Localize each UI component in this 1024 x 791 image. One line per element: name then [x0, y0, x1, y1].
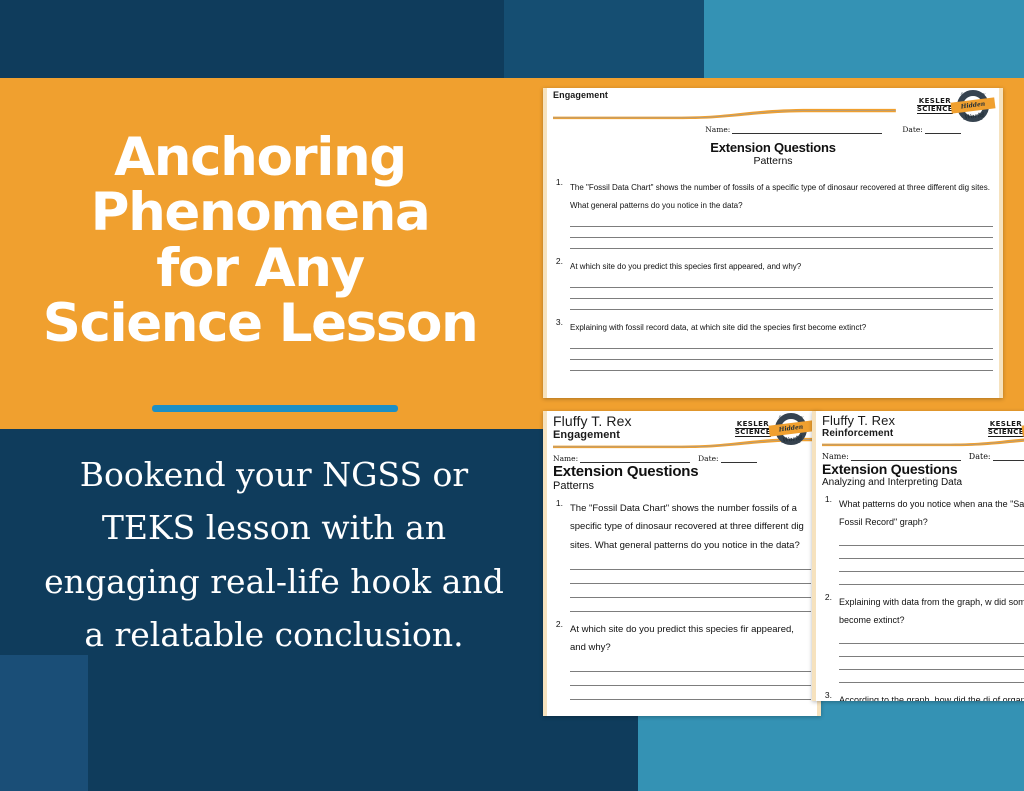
- divider-rule: [152, 405, 398, 412]
- date-field[interactable]: Date:: [698, 454, 756, 463]
- date-label: Date:: [698, 454, 718, 463]
- worksheet-title: Extension Questions: [553, 140, 993, 155]
- question-text: At which site do you predict this specie…: [570, 262, 801, 271]
- badge-top-text: Science Bey: [955, 91, 991, 96]
- question-item: 3. Explaining with fossil record data, a…: [553, 317, 993, 371]
- answer-line[interactable]: [570, 299, 993, 310]
- question-text: According to the graph, how did the di o…: [839, 695, 1024, 701]
- hero-subcopy: Bookend your NGSS or TEKS lesson with an…: [39, 448, 509, 662]
- question-number: 1.: [822, 494, 832, 585]
- question-text: Explaining with fossil record data, at w…: [570, 323, 866, 332]
- kesler-science-logo: KESLER SCIENCE: [988, 421, 1024, 436]
- question-text: The "Fossil Data Chart" shows the number…: [570, 503, 804, 551]
- date-label: Date:: [969, 452, 991, 461]
- worksheet-preview-b[interactable]: Fluffy T. Rex Engagement KESLER SCIENCE …: [543, 411, 821, 716]
- date-field[interactable]: Date:: [969, 452, 1024, 461]
- question-text: The "Fossil Data Chart" shows the number…: [570, 183, 990, 210]
- question-text: Explaining with data from the graph, w d…: [839, 597, 1024, 625]
- answer-line[interactable]: [839, 546, 1024, 559]
- answer-line[interactable]: [570, 556, 811, 570]
- question-item: 3. According to the graph, how did the d…: [822, 690, 1024, 701]
- sheet-left-margin-bar: [812, 411, 816, 701]
- brand-logo-cluster: KESLER SCIENCE Science Bey Our Sight Hid…: [917, 88, 991, 124]
- answer-lines: [570, 556, 811, 612]
- name-date-row: Name: Date:: [822, 452, 1024, 461]
- brand-name-line2: SCIENCE: [735, 429, 771, 437]
- hidden-world-badge-icon: Science Bey Our Sight Hidden World: [955, 88, 991, 124]
- question-list: 1. The "Fossil Data Chart" shows the num…: [553, 498, 811, 700]
- question-number: 2.: [553, 256, 563, 310]
- page-title: Anchoring Phenomena for Any Science Less…: [43, 130, 478, 350]
- worksheet-header-title: Engagement: [553, 90, 608, 100]
- background-navy-accent: [504, 0, 704, 78]
- question-number: 2.: [822, 592, 832, 683]
- answer-line[interactable]: [570, 338, 993, 349]
- worksheet-subtitle: Analyzing and Interpreting Data: [822, 477, 1024, 488]
- question-number: 3.: [822, 690, 832, 701]
- date-field[interactable]: Date:: [902, 125, 960, 134]
- answer-lines: [570, 277, 993, 310]
- question-list: 1. The "Fossil Data Chart" shows the num…: [553, 177, 993, 371]
- header-swoosh-graphic: [553, 108, 896, 120]
- sheet-left-margin-bar: [543, 411, 547, 716]
- hidden-world-badge-icon: Science Bey Our Sight Hidden World: [773, 411, 809, 447]
- sheet-left-margin-bar: [543, 88, 547, 398]
- answer-line[interactable]: [570, 227, 993, 238]
- answer-line[interactable]: [839, 644, 1024, 657]
- question-item: 1. The "Fossil Data Chart" shows the num…: [553, 177, 993, 249]
- hero-headline-block: Anchoring Phenomena for Any Science Less…: [0, 78, 520, 429]
- answer-lines: [570, 658, 811, 700]
- worksheet-subtitle: Patterns: [553, 480, 811, 492]
- answer-line[interactable]: [839, 670, 1024, 683]
- answer-line[interactable]: [570, 686, 811, 700]
- answer-line[interactable]: [570, 570, 811, 584]
- question-text: At which site do you predict this specie…: [570, 624, 794, 653]
- name-label: Name:: [553, 454, 578, 463]
- question-number: 3.: [553, 317, 563, 371]
- hero-subcopy-block: Bookend your NGSS or TEKS lesson with an…: [14, 440, 534, 770]
- question-item: 2. Explaining with data from the graph, …: [822, 592, 1024, 683]
- brand-name-line2: SCIENCE: [917, 106, 953, 114]
- answer-line[interactable]: [570, 584, 811, 598]
- worksheet-header-title: Fluffy T. Rex: [822, 413, 895, 428]
- name-label: Name:: [705, 125, 730, 134]
- answer-lines: [839, 631, 1024, 683]
- answer-lines: [839, 533, 1024, 585]
- worksheet-title-block: Extension Questions Analyzing and Interp…: [822, 461, 1024, 488]
- poster-canvas: Anchoring Phenomena for Any Science Less…: [0, 0, 1024, 791]
- worksheet-header: Fluffy T. Rex Reinforcement KESLER SCIEN…: [822, 411, 1024, 449]
- question-item: 1. The "Fossil Data Chart" shows the num…: [553, 498, 811, 612]
- answer-line[interactable]: [570, 216, 993, 227]
- name-date-row: Name: Date:: [553, 454, 811, 463]
- date-label: Date:: [902, 125, 922, 134]
- question-item: 1. What patterns do you notice when ana …: [822, 494, 1024, 585]
- name-field[interactable]: Name:: [822, 452, 961, 461]
- worksheet-preview-c[interactable]: Fluffy T. Rex Reinforcement KESLER SCIEN…: [812, 411, 1024, 701]
- question-text: What patterns do you notice when ana the…: [839, 499, 1024, 527]
- answer-line[interactable]: [839, 559, 1024, 572]
- answer-lines: [570, 216, 993, 249]
- answer-lines: [570, 338, 993, 371]
- question-number: 1.: [553, 498, 563, 612]
- name-label: Name:: [822, 452, 849, 461]
- answer-line[interactable]: [570, 349, 993, 360]
- brand-name-line2: SCIENCE: [988, 429, 1024, 437]
- worksheet-title-block: Extension Questions Patterns: [553, 463, 811, 492]
- answer-line[interactable]: [570, 598, 811, 612]
- brand-logo-cluster: KESLER SCIENCE Science Bey Our Sight Hid…: [735, 411, 809, 447]
- kesler-science-logo: KESLER SCIENCE: [917, 98, 953, 113]
- worksheet-subtitle: Patterns: [553, 155, 993, 167]
- answer-line[interactable]: [570, 360, 993, 371]
- answer-line[interactable]: [839, 631, 1024, 644]
- worksheet-header: Fluffy T. Rex Engagement KESLER SCIENCE …: [553, 411, 811, 451]
- answer-line[interactable]: [570, 238, 993, 249]
- background-teal-top-right: [704, 0, 1024, 80]
- badge-top-text: Science Bey: [773, 414, 809, 419]
- answer-line[interactable]: [570, 672, 811, 686]
- answer-line[interactable]: [570, 288, 993, 299]
- name-date-row: Name: Date:: [553, 125, 993, 134]
- worksheet-title: Extension Questions: [822, 461, 1024, 477]
- worksheet-header: Engagement KESLER SCIENCE Science Bey Ou…: [553, 88, 993, 122]
- question-number: 2.: [553, 619, 563, 701]
- question-list: 1. What patterns do you notice when ana …: [822, 494, 1024, 701]
- question-item: 2. At which site do you predict this spe…: [553, 619, 811, 701]
- worksheet-title-block: Extension Questions Patterns: [553, 140, 993, 167]
- question-number: 1.: [553, 177, 563, 249]
- answer-line[interactable]: [570, 658, 811, 672]
- answer-line[interactable]: [839, 657, 1024, 670]
- kesler-science-logo: KESLER SCIENCE: [735, 421, 771, 436]
- worksheet-header-title: Fluffy T. Rex: [553, 413, 632, 429]
- sheet-right-margin-bar: [999, 88, 1003, 398]
- answer-line[interactable]: [839, 533, 1024, 546]
- name-field[interactable]: Name:: [705, 125, 882, 134]
- name-field[interactable]: Name:: [553, 454, 690, 463]
- answer-line[interactable]: [570, 277, 993, 288]
- brand-logo-cluster: KESLER SCIENCE Science Bey Our Sight Hid…: [988, 411, 1024, 447]
- worksheet-preview-a[interactable]: Engagement KESLER SCIENCE Science Bey Ou…: [543, 88, 1003, 398]
- worksheet-title: Extension Questions: [553, 463, 811, 480]
- question-item: 2. At which site do you predict this spe…: [553, 256, 993, 310]
- answer-line[interactable]: [839, 572, 1024, 585]
